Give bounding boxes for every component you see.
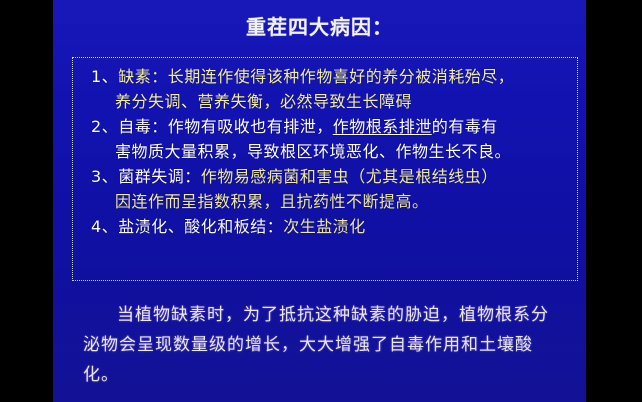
reason-3-line2: 因连作而呈指数积累，且抗药性不断提高。	[91, 189, 573, 214]
reason-4-line1: 次生盐渍化	[283, 217, 366, 236]
reason-2-line1-a: 作物有吸收也有排泄，	[168, 117, 333, 136]
closing-note: 当植物缺素时，为了抵抗这种缺素的胁迫，植物根系分泌物会呈现数量级的增长，大大增强…	[83, 300, 561, 390]
reason-4-label: 盐渍化、酸化和板结：	[118, 217, 283, 236]
reason-2-line1-b: 的有毒有	[432, 117, 498, 136]
reason-item-1: 1、缺素：长期连作使得该种作物喜好的养分被消耗殆尽， 养分失调、营养失衡，必然导…	[81, 64, 573, 114]
slide-root: 重茬四大病因： 1、缺素：长期连作使得该种作物喜好的养分被消耗殆尽， 养分失调、…	[0, 0, 642, 402]
reason-2-label: 自毒：	[118, 117, 168, 136]
reason-1-line2: 养分失调、营养失衡，必然导致生长障碍	[91, 89, 573, 114]
reasons-box: 1、缺素：长期连作使得该种作物喜好的养分被消耗殆尽， 养分失调、营养失衡，必然导…	[72, 57, 578, 281]
reason-1-line1: 长期连作使得该种作物喜好的养分被消耗殆尽，	[168, 67, 515, 86]
reason-1-number: 1、	[91, 67, 118, 86]
letterbox-bar-left	[0, 0, 53, 402]
letterbox-bar-right	[586, 0, 642, 402]
reason-1-label: 缺素：	[118, 67, 168, 86]
reason-2-number: 2、	[91, 117, 118, 136]
reason-3-line1: 作物易感病菌和害虫（尤其是根结线虫）	[201, 167, 498, 186]
slide-canvas: 重茬四大病因： 1、缺素：长期连作使得该种作物喜好的养分被消耗殆尽， 养分失调、…	[53, 0, 586, 402]
reason-3-label: 菌群失调：	[118, 167, 201, 186]
reason-3-number: 3、	[91, 167, 118, 186]
reason-2-line1-underlined: 作物根系排泄	[333, 117, 432, 136]
slide-title: 重茬四大病因：	[53, 14, 586, 40]
reason-item-3: 3、菌群失调：作物易感病菌和害虫（尤其是根结线虫） 因连作而呈指数积累，且抗药性…	[81, 164, 573, 214]
reason-2-line2: 害物质大量积累，导致根区环境恶化、作物生长不良。	[91, 139, 573, 164]
reason-item-2: 2、自毒：作物有吸收也有排泄，作物根系排泄的有毒有 害物质大量积累，导致根区环境…	[81, 114, 573, 164]
reason-item-4: 4、盐渍化、酸化和板结：次生盐渍化	[81, 214, 573, 239]
reason-4-number: 4、	[91, 217, 118, 236]
